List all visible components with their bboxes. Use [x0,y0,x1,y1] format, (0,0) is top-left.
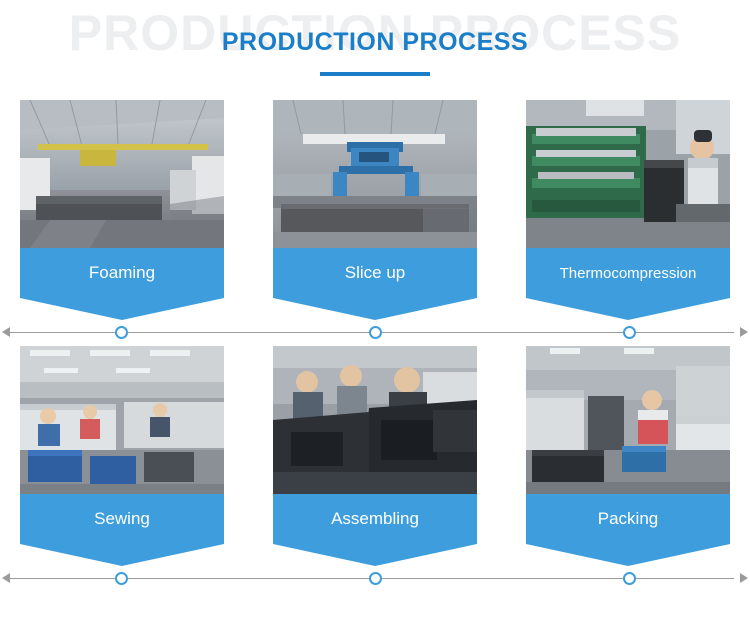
process-card-caption: Sewing [20,494,224,544]
process-card-thermocompression[interactable]: Thermocompression [526,100,730,320]
arrow-right-icon [740,327,748,337]
caption-arrow [526,544,730,566]
process-card-group-2: Sewing [0,346,750,566]
timeline-node-1 [115,326,128,339]
page-title: PRODUCTION PROCESS [222,28,528,57]
sewing-workshop-photo [20,346,224,494]
packing-area-photo [526,346,730,494]
process-card-packing[interactable]: Packing [526,346,730,566]
timeline-node-2 [369,326,382,339]
caption-arrow [273,298,477,320]
process-row-2: Sewing [0,346,750,592]
process-card-caption: Foaming [20,248,224,298]
process-card-group-1: Foaming [0,100,750,320]
caption-arrow [273,544,477,566]
process-row-1: Foaming [0,100,750,346]
timeline-node-6 [623,572,636,585]
timeline-node-3 [623,326,636,339]
timeline-node-4 [115,572,128,585]
page-header: PRODUCTION PROCESS PRODUCTION PROCESS [0,0,750,100]
timeline-node-5 [369,572,382,585]
title-underline [320,72,430,76]
caption-arrow [20,544,224,566]
timeline-row-2 [0,566,750,592]
arrow-left-icon [2,327,10,337]
process-card-caption: Packing [526,494,730,544]
foaming-factory-photo [20,100,224,248]
arrow-left-icon [2,573,10,583]
process-card-caption: Slice up [273,248,477,298]
process-card-caption: Assembling [273,494,477,544]
arrow-right-icon [740,573,748,583]
caption-arrow [20,298,224,320]
thermocompression-press-photo [526,100,730,248]
caption-arrow [526,298,730,320]
timeline-row-1 [0,320,750,346]
process-rows: Foaming [0,100,750,592]
process-card-sewing[interactable]: Sewing [20,346,224,566]
process-card-caption: Thermocompression [526,248,730,298]
process-card-assembling[interactable]: Assembling [273,346,477,566]
process-card-slice-up[interactable]: Slice up [273,100,477,320]
assembling-workshop-photo [273,346,477,494]
process-card-foaming[interactable]: Foaming [20,100,224,320]
slice-up-machine-photo [273,100,477,248]
